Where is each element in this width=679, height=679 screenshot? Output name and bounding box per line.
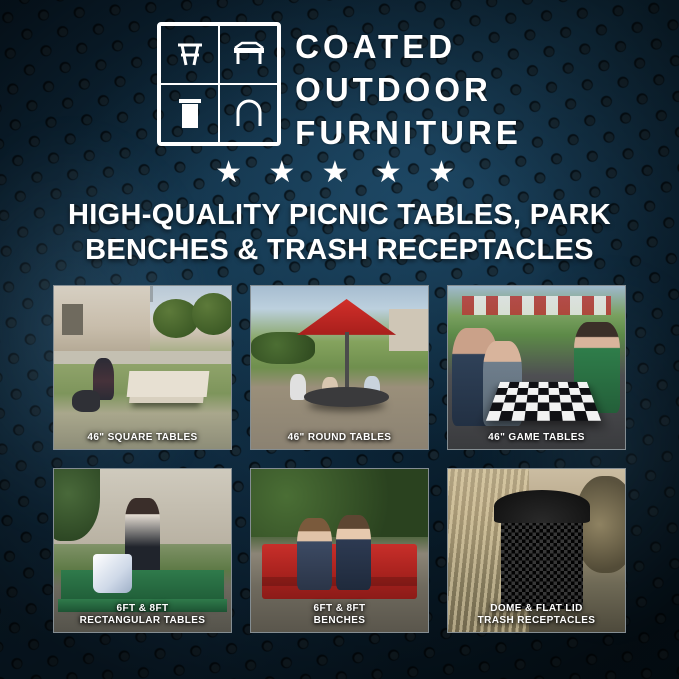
tile-caption-line-2: BENCHES bbox=[254, 615, 425, 627]
tile-caption: 46" SQUARE TABLES bbox=[54, 427, 231, 450]
tile-caption-line-1: 46" SQUARE TABLES bbox=[57, 432, 228, 444]
park-bench-icon bbox=[218, 24, 279, 85]
tile-caption-line-1: 46" GAME TABLES bbox=[451, 432, 622, 444]
product-category-grid: 46" SQUARE TABLES 46" ROUND TABLES bbox=[53, 285, 626, 633]
tile-caption-line-1: 6FT & 8FT bbox=[57, 603, 228, 615]
tile-caption: 46" ROUND TABLES bbox=[251, 427, 428, 450]
headline-line-2: BENCHES & TRASH RECEPTACLES bbox=[30, 233, 649, 268]
brand-name-line-2: OUTDOOR bbox=[295, 69, 522, 112]
picnic-table-end-icon bbox=[159, 24, 220, 85]
brand-name-line-3: FURNITURE bbox=[295, 112, 522, 155]
brand-logo: COATED OUTDOOR FURNITURE bbox=[0, 22, 679, 155]
photo-round-table-red-umbrella bbox=[251, 286, 428, 449]
tile-caption-line-2: RECTANGULAR TABLES bbox=[57, 615, 228, 627]
product-tile-square-tables[interactable]: 46" SQUARE TABLES bbox=[53, 285, 232, 450]
tile-caption: 6FT & 8FT BENCHES bbox=[251, 598, 428, 632]
tile-caption-line-2: TRASH RECEPTACLES bbox=[451, 615, 622, 627]
trash-can-icon bbox=[159, 83, 220, 144]
product-poster: COATED OUTDOOR FURNITURE ★ ★ ★ ★ ★ HIGH-… bbox=[0, 0, 679, 679]
tile-caption: DOME & FLAT LID TRASH RECEPTACLES bbox=[448, 598, 625, 632]
tile-caption-line-1: 46" ROUND TABLES bbox=[254, 432, 425, 444]
brand-name-line-1: COATED bbox=[295, 26, 522, 69]
product-tile-trash-receptacles[interactable]: DOME & FLAT LID TRASH RECEPTACLES bbox=[447, 468, 626, 633]
product-tile-round-tables[interactable]: 46" ROUND TABLES bbox=[250, 285, 429, 450]
tile-caption-line-1: DOME & FLAT LID bbox=[451, 603, 622, 615]
photo-square-picnic-table-patio bbox=[54, 286, 231, 449]
product-tile-game-tables[interactable]: 46" GAME TABLES bbox=[447, 285, 626, 450]
tile-caption: 6FT & 8FT RECTANGULAR TABLES bbox=[54, 598, 231, 632]
tile-caption-line-1: 6FT & 8FT bbox=[254, 603, 425, 615]
tile-caption: 46" GAME TABLES bbox=[448, 427, 625, 450]
logo-mark bbox=[157, 22, 281, 146]
star-rating: ★ ★ ★ ★ ★ bbox=[0, 158, 679, 188]
product-tile-benches[interactable]: 6FT & 8FT BENCHES bbox=[250, 468, 429, 633]
brand-name: COATED OUTDOOR FURNITURE bbox=[295, 22, 522, 155]
product-tile-rectangular-tables[interactable]: 6FT & 8FT RECTANGULAR TABLES bbox=[53, 468, 232, 633]
headline-line-1: HIGH-QUALITY PICNIC TABLES, PARK bbox=[30, 198, 649, 233]
page-title: HIGH-QUALITY PICNIC TABLES, PARK BENCHES… bbox=[30, 198, 649, 269]
round-table-icon bbox=[218, 83, 279, 144]
photo-checkerboard-game-table bbox=[448, 286, 625, 449]
